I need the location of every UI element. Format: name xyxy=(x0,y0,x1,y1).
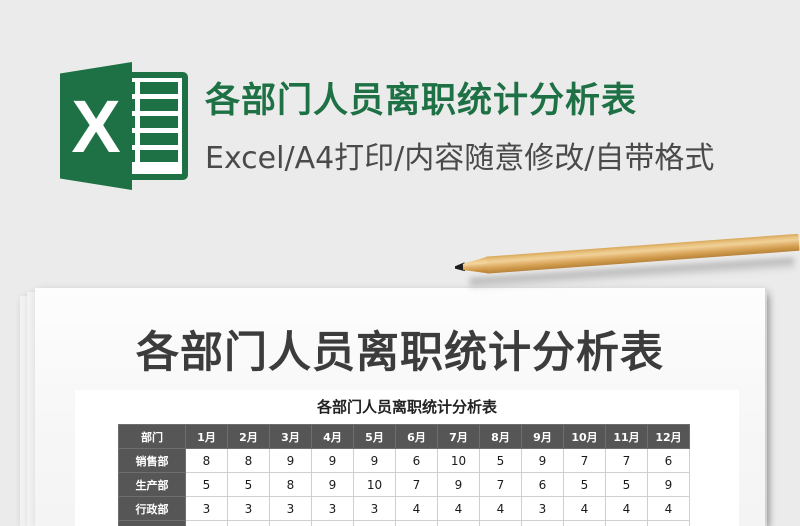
cell-value: 5 xyxy=(480,449,522,473)
column-header-month-8: 8月 xyxy=(480,425,522,449)
cell-value: 3 xyxy=(354,497,396,521)
cell-value: 5 xyxy=(186,473,228,497)
cell-value: 6 xyxy=(522,473,564,497)
column-header-month-4: 4月 xyxy=(312,425,354,449)
pencil-sharpened-cone xyxy=(462,257,489,276)
cell-value: 9 xyxy=(270,449,312,473)
banner-subtitle: Excel/A4打印/内容随意修改/自带格式 xyxy=(205,133,714,177)
cell-value: 10 xyxy=(438,449,480,473)
departure-statistics-table: 部门 1月 2月 3月 4月 5月 6月 7月 8月 9月 10月 11月 12… xyxy=(118,424,690,526)
cell-value xyxy=(438,521,480,526)
pencil-icon xyxy=(453,220,800,293)
row-label: 销售部 xyxy=(119,449,186,473)
cell-value: 7 xyxy=(480,473,522,497)
cell-value xyxy=(228,521,270,526)
cell-value: 4 xyxy=(480,497,522,521)
table-row: 销售部 8 8 9 9 9 6 10 5 9 7 7 6 xyxy=(119,449,690,473)
cell-value: 5 xyxy=(606,473,648,497)
cell-value: 9 xyxy=(522,449,564,473)
cell-value: 3 xyxy=(186,497,228,521)
pencil-body xyxy=(486,234,799,274)
cell-value: 9 xyxy=(312,473,354,497)
cell-value xyxy=(522,521,564,526)
cell-value: 4 xyxy=(648,497,690,521)
cell-value xyxy=(564,521,606,526)
column-header-month-7: 7月 xyxy=(438,425,480,449)
cell-value xyxy=(480,521,522,526)
table-row: 行政部 3 3 3 3 3 4 4 4 3 4 4 4 xyxy=(119,497,690,521)
document-title: 各部门人员离职统计分析表 xyxy=(35,318,765,380)
cell-value xyxy=(648,521,690,526)
column-header-month-6: 6月 xyxy=(396,425,438,449)
excel-logo-icon: X xyxy=(60,62,190,190)
cell-value: 4 xyxy=(564,497,606,521)
cell-value: 9 xyxy=(312,449,354,473)
column-header-month-10: 10月 xyxy=(564,425,606,449)
cell-value: 10 xyxy=(354,473,396,497)
cell-value: 9 xyxy=(438,473,480,497)
table-body: 销售部 8 8 9 9 9 6 10 5 9 7 7 6 xyxy=(119,449,690,526)
table-head: 部门 1月 2月 3月 4月 5月 6月 7月 8月 9月 10月 11月 12… xyxy=(119,425,690,449)
column-header-month-11: 11月 xyxy=(606,425,648,449)
table-caption: 各部门人员离职统计分析表 xyxy=(75,396,739,417)
cell-value: 7 xyxy=(564,449,606,473)
cell-value xyxy=(354,521,396,526)
worksheet-area: 各部门人员离职统计分析表 部门 1月 2月 3月 4月 xyxy=(75,390,739,526)
cell-value: 6 xyxy=(648,449,690,473)
cell-value: 7 xyxy=(396,473,438,497)
column-header-month-3: 3月 xyxy=(270,425,312,449)
column-header-month-9: 9月 xyxy=(522,425,564,449)
row-label: 生产部 xyxy=(119,473,186,497)
column-header-dept: 部门 xyxy=(119,425,186,449)
cell-value: 6 xyxy=(396,449,438,473)
cell-value: 4 xyxy=(438,497,480,521)
cell-value: 5 xyxy=(564,473,606,497)
column-header-month-1: 1月 xyxy=(186,425,228,449)
cell-value: 9 xyxy=(354,449,396,473)
cell-value: 8 xyxy=(270,473,312,497)
cell-value xyxy=(312,521,354,526)
cell-value xyxy=(186,521,228,526)
banner: X 各部门人员离职统计分析表 Excel/A4打印/内容随意修改/自带格式 xyxy=(0,0,800,216)
cell-value: 5 xyxy=(228,473,270,497)
cell-value xyxy=(606,521,648,526)
column-header-month-2: 2月 xyxy=(228,425,270,449)
row-label xyxy=(119,521,186,526)
cell-value: 4 xyxy=(606,497,648,521)
cell-value: 4 xyxy=(396,497,438,521)
table-row-partial xyxy=(119,521,690,526)
cell-value: 3 xyxy=(228,497,270,521)
excel-logo-letter: X xyxy=(60,62,132,190)
column-header-month-12: 12月 xyxy=(648,425,690,449)
cell-value: 3 xyxy=(522,497,564,521)
paper-sheet-main: 各部门人员离职统计分析表 各部门人员离职统计分析表 部门 1月 2月 3月 xyxy=(35,288,765,526)
cell-value: 7 xyxy=(606,449,648,473)
preview-canvas: X 各部门人员离职统计分析表 Excel/A4打印/内容随意修改/自带格式 各部… xyxy=(0,0,800,526)
cell-value: 9 xyxy=(648,473,690,497)
cell-value: 8 xyxy=(186,449,228,473)
column-header-month-5: 5月 xyxy=(354,425,396,449)
cell-value xyxy=(396,521,438,526)
table-header-row: 部门 1月 2月 3月 4月 5月 6月 7月 8月 9月 10月 11月 12… xyxy=(119,425,690,449)
row-label: 行政部 xyxy=(119,497,186,521)
cell-value xyxy=(270,521,312,526)
cell-value: 8 xyxy=(228,449,270,473)
cell-value: 3 xyxy=(270,497,312,521)
banner-title: 各部门人员离职统计分析表 xyxy=(205,72,637,123)
cell-value: 3 xyxy=(312,497,354,521)
table-row: 生产部 5 5 8 9 10 7 9 7 6 5 5 9 xyxy=(119,473,690,497)
